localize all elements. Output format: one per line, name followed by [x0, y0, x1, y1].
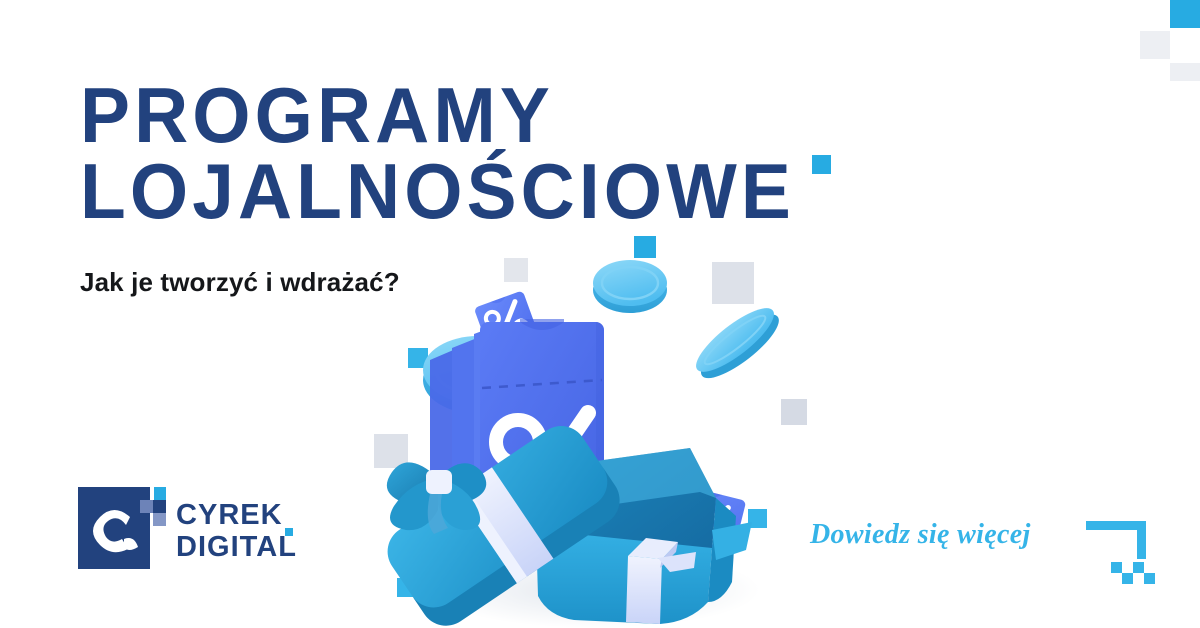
- subtitle: Jak je tworzyć i wdrażać?: [80, 267, 400, 298]
- cta-label[interactable]: Dowiedz się więcej: [810, 519, 1031, 551]
- logo-wordmark: CYREK DIGITAL: [176, 499, 297, 564]
- checker-square-2: [1133, 562, 1144, 573]
- page-title: PROGRAMYLOJALNOŚCIOWE: [80, 78, 795, 229]
- checker-square-3: [1122, 573, 1133, 584]
- corner-bracket-arrow-icon[interactable]: [1086, 521, 1146, 559]
- ribbon-bow: [387, 462, 486, 534]
- logo-pixel-mid: [140, 500, 153, 513]
- logo-pixel-light: [153, 513, 166, 526]
- coin-disc-right-edge: [688, 299, 787, 388]
- corner-accent-gray-square-2: [1170, 63, 1200, 81]
- loyalty-rewards-3d-illustration: [360, 230, 820, 628]
- logo-word-line-1: CYREK: [176, 499, 297, 531]
- corner-accent-cyan-square: [1170, 0, 1200, 28]
- logo-accent-dot: [285, 528, 293, 536]
- checker-square-1: [1111, 562, 1122, 573]
- cta-checker-accents: [1111, 562, 1153, 583]
- logomark-pixel-accents: [140, 487, 166, 527]
- logo-word-line-2: DIGITAL: [176, 531, 297, 563]
- bracket-vertical: [1137, 521, 1146, 559]
- logo-pixel-cyan: [154, 487, 166, 500]
- logo[interactable]: CYREK DIGITAL: [78, 487, 308, 573]
- corner-accent-gray-square-1: [1140, 31, 1170, 59]
- title-accent-square: [812, 155, 831, 174]
- coin-disc-top: [593, 260, 667, 313]
- logo-pixel-navy: [153, 500, 166, 513]
- title-line-2: LOJALNOŚCIOWE: [80, 154, 795, 230]
- banner-canvas: PROGRAMYLOJALNOŚCIOWE Jak je tworzyć i w…: [0, 0, 1200, 628]
- checker-square-4: [1144, 573, 1155, 584]
- title-line-1: PROGRAMY: [80, 71, 554, 159]
